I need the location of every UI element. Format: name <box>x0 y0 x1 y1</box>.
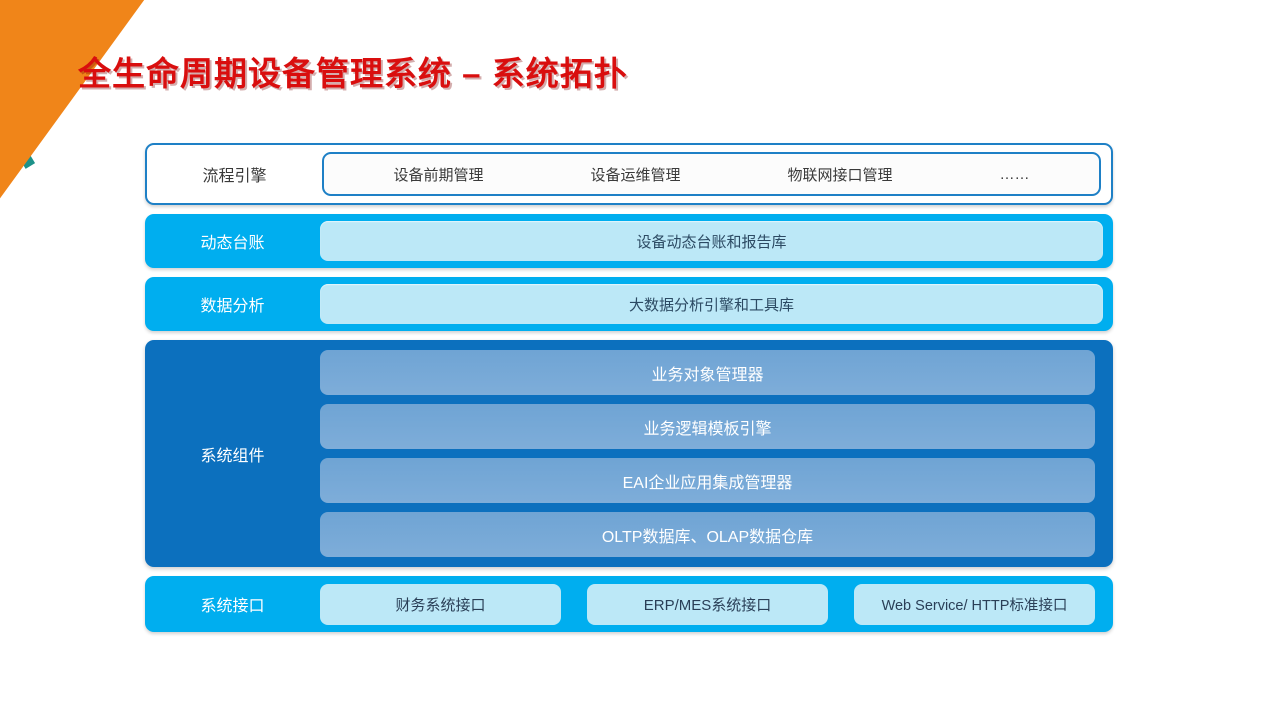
module-ellipsis: …… <box>999 166 1029 183</box>
layer-row-process-engine: 流程引擎 设备前期管理 设备运维管理 物联网接口管理 …… <box>145 143 1113 205</box>
layer-label-process-engine: 流程引擎 <box>147 145 322 203</box>
layer-body-system-interfaces: 财务系统接口 ERP/MES系统接口 Web Service/ HTTP标准接口 <box>320 576 1113 632</box>
architecture-stack: 流程引擎 设备前期管理 设备运维管理 物联网接口管理 …… 动态台账 设备动态台… <box>145 143 1113 632</box>
module-finance-system-interface[interactable]: 财务系统接口 <box>320 584 561 625</box>
corner-stripe-teal-top-left <box>0 67 35 169</box>
module-business-object-manager[interactable]: 业务对象管理器 <box>320 350 1095 395</box>
module-iot-interface[interactable]: 物联网接口管理 <box>787 164 892 185</box>
layer-body-system-components: 业务对象管理器 业务逻辑模板引擎 EAI企业应用集成管理器 OLTP数据库、OL… <box>320 350 1113 557</box>
layer-label-dynamic-ledger: 动态台账 <box>145 214 320 268</box>
layer-body-dynamic-ledger: 设备动态台账和报告库 <box>320 214 1113 268</box>
slide-canvas: 全生命周期设备管理系统 – 系统拓扑 流程引擎 设备前期管理 设备运维管理 物联… <box>0 0 1280 720</box>
layer-row-dynamic-ledger: 动态台账 设备动态台账和报告库 <box>145 214 1113 268</box>
layer-label-data-analysis: 数据分析 <box>145 277 320 331</box>
layer-body-process-engine: 设备前期管理 设备运维管理 物联网接口管理 …… <box>322 145 1111 203</box>
module-operation-maintenance[interactable]: 设备运维管理 <box>590 164 680 185</box>
module-group-process-engine: 设备前期管理 设备运维管理 物联网接口管理 …… <box>322 152 1101 196</box>
module-business-logic-template-engine[interactable]: 业务逻辑模板引擎 <box>320 404 1095 449</box>
module-oltp-olap-database[interactable]: OLTP数据库、OLAP数据仓库 <box>320 512 1095 557</box>
module-erp-mes-system-interface[interactable]: ERP/MES系统接口 <box>587 584 828 625</box>
module-eai-integration-manager[interactable]: EAI企业应用集成管理器 <box>320 458 1095 503</box>
layer-body-data-analysis: 大数据分析引擎和工具库 <box>320 277 1113 331</box>
layer-row-data-analysis: 数据分析 大数据分析引擎和工具库 <box>145 277 1113 331</box>
module-bigdata-engine-toolkit[interactable]: 大数据分析引擎和工具库 <box>320 284 1103 324</box>
page-title: 全生命周期设备管理系统 – 系统拓扑 <box>78 47 628 95</box>
layer-row-system-interfaces: 系统接口 财务系统接口 ERP/MES系统接口 Web Service/ HTT… <box>145 576 1113 632</box>
corner-stripe-orange-top-left <box>0 0 45 97</box>
layer-label-system-components: 系统组件 <box>145 350 320 557</box>
layer-row-system-components: 系统组件 业务对象管理器 业务逻辑模板引擎 EAI企业应用集成管理器 OLTP数… <box>145 340 1113 567</box>
module-ledger-report-library[interactable]: 设备动态台账和报告库 <box>320 221 1103 261</box>
layer-label-system-interfaces: 系统接口 <box>145 576 320 632</box>
module-pre-management[interactable]: 设备前期管理 <box>393 164 483 185</box>
module-webservice-http-interface[interactable]: Web Service/ HTTP标准接口 <box>854 584 1095 625</box>
